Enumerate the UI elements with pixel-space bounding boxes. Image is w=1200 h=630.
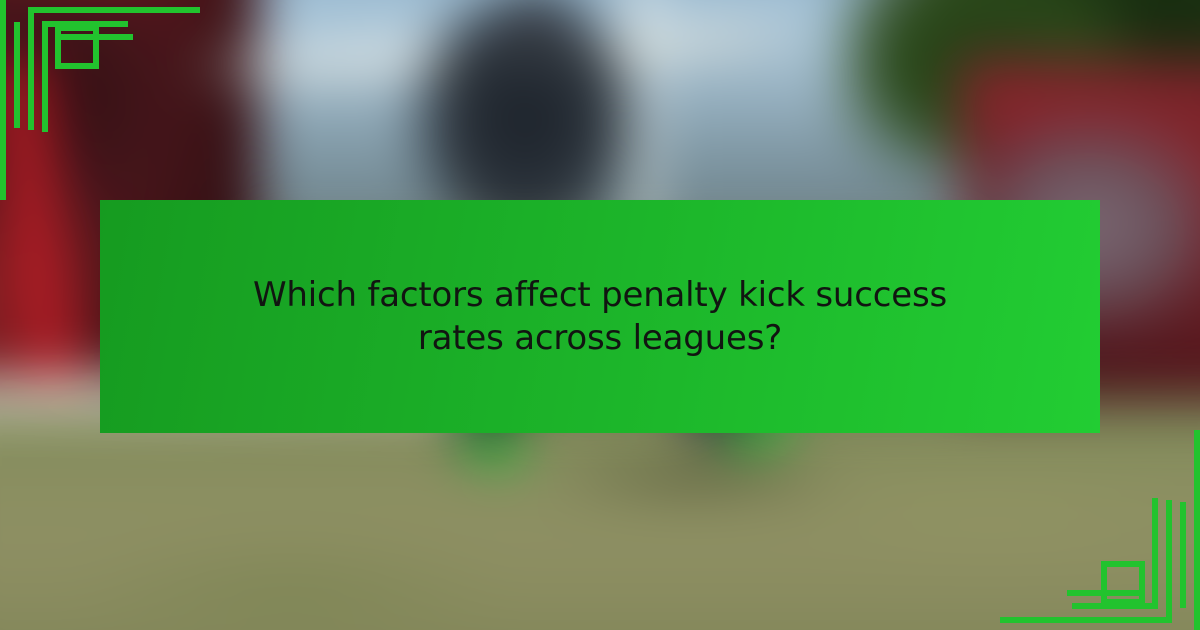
top-left-ornament xyxy=(0,0,200,200)
circuit-corner-icon xyxy=(1000,430,1200,630)
headline-banner: Which factors affect penalty kick succes… xyxy=(100,200,1100,433)
social-card: Which factors affect penalty kick succes… xyxy=(0,0,1200,630)
headline-text: Which factors affect penalty kick succes… xyxy=(253,274,947,360)
ground-shadow xyxy=(530,455,860,499)
player-head xyxy=(480,0,590,70)
circuit-corner-icon xyxy=(0,0,200,200)
bottom-right-ornament xyxy=(1000,430,1200,630)
grass-patch xyxy=(60,530,520,630)
